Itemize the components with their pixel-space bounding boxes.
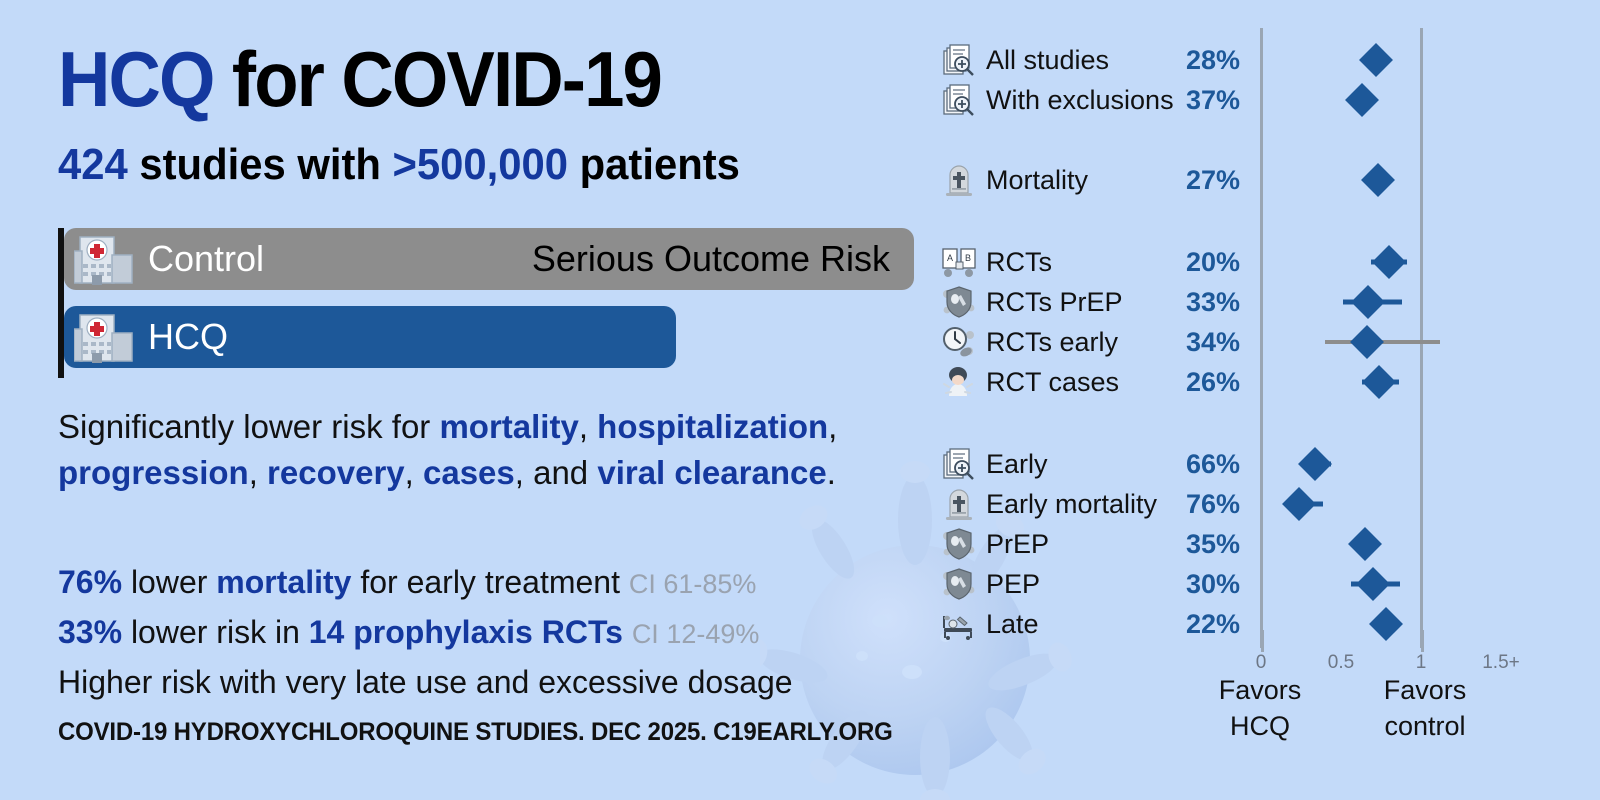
hospital-icon — [74, 311, 136, 363]
forest-row-label: All studies — [986, 40, 1109, 80]
forest-row: With exclusions37% — [930, 80, 1600, 120]
hospital-bed-icon — [942, 608, 976, 640]
footer-source: COVID-19 HYDROXYCHLOROQUINE STUDIES. DEC… — [58, 718, 893, 747]
infographic-root: HCQ for COVID-19 424 studies with >500,0… — [0, 0, 1600, 800]
axis-tick-label: 0.5 — [1311, 652, 1371, 674]
axis-tick-label: 0 — [1231, 652, 1291, 674]
shield-icon — [942, 528, 976, 560]
shield-icon — [942, 568, 976, 600]
forest-row: All studies28% — [930, 40, 1600, 80]
svg-text:B: B — [965, 253, 971, 263]
subtitle-end: patients — [568, 140, 740, 189]
outcome-progression: progression — [58, 454, 249, 491]
gravestone-icon — [942, 488, 976, 520]
outcome-cases: cases — [423, 454, 515, 491]
forest-row-label: Early — [986, 444, 1048, 484]
patient-icon — [942, 366, 976, 398]
forest-row: RCTs PrEP33% — [930, 282, 1600, 322]
clock-icon — [942, 326, 976, 358]
forest-row-label: PEP — [986, 564, 1040, 604]
favors-control-line1: Favors — [1325, 672, 1525, 708]
summary-lead: Significantly lower risk for — [58, 408, 439, 445]
stat-post: for early treatment — [351, 564, 628, 600]
summary-paragraph: Significantly lower risk for mortality, … — [58, 404, 928, 496]
forest-row: Early66% — [930, 444, 1600, 484]
forest-row-label: Early mortality — [986, 484, 1157, 524]
bar-control-label: Control — [148, 238, 264, 280]
forest-row: Early mortality76% — [930, 484, 1600, 524]
bar-hcq-label: HCQ — [148, 316, 228, 358]
stat-ci: CI 12-49% — [632, 619, 760, 649]
stat-row-prophylaxis: 33% lower risk in 14 prophylaxis RCTs CI… — [58, 608, 938, 658]
hospital-icon — [74, 233, 136, 285]
forest-row-label: With exclusions — [986, 80, 1174, 120]
forest-row: PrEP35% — [930, 524, 1600, 564]
favors-control-line2: control — [1325, 708, 1525, 744]
axis-tick-label: 1.5+ — [1471, 652, 1531, 674]
forest-row-percent: 26% — [1150, 362, 1240, 402]
forest-row-percent: 37% — [1150, 80, 1240, 120]
bar-chart-caption: Serious Outcome Risk — [532, 238, 890, 280]
forest-row-label: RCTs — [986, 242, 1052, 282]
forest-row-percent: 34% — [1150, 322, 1240, 362]
forest-row-percent: 22% — [1150, 604, 1240, 644]
forest-row: PEP30% — [930, 564, 1600, 604]
stat-bold: mortality — [216, 564, 351, 600]
forest-row-percent: 27% — [1150, 160, 1240, 200]
forest-row: RCTs early34% — [930, 322, 1600, 362]
left-panel: HCQ for COVID-19 424 studies with >500,0… — [0, 0, 930, 800]
forest-row-percent: 20% — [1150, 242, 1240, 282]
summary-conjunction: , and — [515, 454, 598, 491]
outcome-mortality: mortality — [439, 408, 578, 445]
stat-value: 76% — [58, 564, 122, 600]
axis-tick — [1421, 630, 1424, 652]
forest-row-percent: 76% — [1150, 484, 1240, 524]
axis-tick — [1261, 630, 1264, 652]
outcome-hospitalization: hospitalization — [597, 408, 828, 445]
page-subtitle: 424 studies with >500,000 patients — [58, 140, 740, 190]
studies-icon — [942, 44, 976, 76]
stat-row-mortality: 76% lower mortality for early treatment … — [58, 558, 938, 608]
title-rest: for COVID-19 — [214, 35, 661, 123]
studies-icon — [942, 84, 976, 116]
forest-row-label: RCTs early — [986, 322, 1118, 362]
rct-icon: A B — [942, 246, 976, 278]
forest-row-label: RCT cases — [986, 362, 1119, 402]
subtitle-study-count: 424 — [58, 140, 128, 189]
forest-row-label: PrEP — [986, 524, 1049, 564]
stat-row-note: Higher risk with very late use and exces… — [58, 658, 938, 706]
outcome-recovery: recovery — [267, 454, 405, 491]
forest-row: A B RCTs20% — [930, 242, 1600, 282]
stat-pre: lower — [122, 564, 216, 600]
title-highlight: HCQ — [58, 35, 214, 123]
statistics-list: 76% lower mortality for early treatment … — [58, 558, 938, 706]
bar-control: Control Serious Outcome Risk — [64, 228, 914, 290]
stat-bold: 14 prophylaxis RCTs — [309, 614, 623, 650]
stat-post — [623, 614, 632, 650]
forest-row-percent: 30% — [1150, 564, 1240, 604]
forest-row: Late22% — [930, 604, 1600, 644]
studies-icon — [942, 448, 976, 480]
outcome-viral-clearance: viral clearance — [597, 454, 826, 491]
axis-tick-label: 1 — [1391, 652, 1451, 674]
forest-plot: All studies28% With exclusions37% Mortal… — [930, 0, 1600, 800]
risk-bar-chart: Control Serious Outcome Risk — [58, 228, 918, 378]
stat-value: 33% — [58, 614, 122, 650]
forest-row-percent: 66% — [1150, 444, 1240, 484]
shield-icon — [942, 286, 976, 318]
forest-row-percent: 28% — [1150, 40, 1240, 80]
stat-ci: CI 61-85% — [629, 569, 757, 599]
gravestone-icon — [942, 164, 976, 196]
stat-pre: lower risk in — [122, 614, 309, 650]
confidence-interval-line — [1379, 340, 1441, 344]
page-title: HCQ for COVID-19 — [58, 34, 661, 125]
svg-text:A: A — [947, 253, 953, 263]
forest-row-percent: 35% — [1150, 524, 1240, 564]
forest-row-percent: 33% — [1150, 282, 1240, 322]
favors-control-label: Favors control — [1325, 672, 1525, 744]
forest-row-label: Mortality — [986, 160, 1088, 200]
forest-row: RCT cases26% — [930, 362, 1600, 402]
subtitle-mid: studies with — [128, 140, 393, 189]
bar-hcq: HCQ — [64, 306, 676, 368]
forest-row-label: Late — [986, 604, 1039, 644]
forest-row: Mortality27% — [930, 160, 1600, 200]
forest-row-label: RCTs PrEP — [986, 282, 1123, 322]
subtitle-patient-count: >500,000 — [393, 140, 569, 189]
